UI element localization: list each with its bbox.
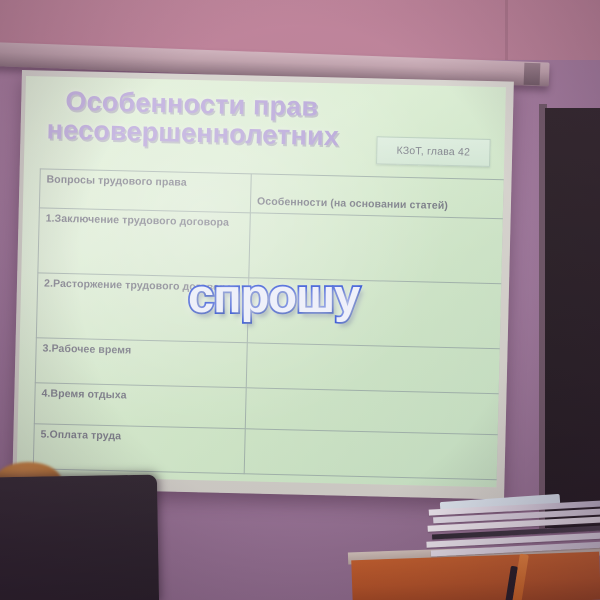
wall-seam — [505, 0, 508, 62]
projector-screen-roller-cap — [524, 63, 541, 86]
row-details — [246, 343, 500, 394]
row-question: 1.Заключение трудового договора — [38, 208, 250, 278]
blackboard — [545, 108, 600, 528]
row-details — [244, 429, 498, 480]
row-question: 3.Рабочее время — [35, 338, 247, 388]
row-question: 5.Оплата труда — [33, 424, 245, 474]
table-row: 5.Оплата труда — [33, 424, 498, 480]
table-header-features: Особенности (на основании статей) — [250, 174, 504, 219]
row-question: 4.Время отдыха — [34, 383, 246, 429]
slide-title: Особенности прав несовершеннолетних — [64, 87, 405, 153]
features-table: Вопросы трудового права Особенности (на … — [33, 168, 505, 480]
classroom-photo-scene: Особенности прав несовершеннолетних КЗоТ… — [0, 0, 600, 600]
table-header-questions: Вопросы трудового права — [39, 169, 251, 213]
chair-back — [0, 475, 159, 600]
overlay-caption: спрошу — [188, 272, 359, 319]
slide-title-line-2: несовершеннолетних — [46, 116, 405, 154]
source-badge: КЗоТ, глава 42 — [376, 136, 491, 167]
paper-stack — [429, 500, 600, 564]
row-details — [245, 388, 499, 435]
